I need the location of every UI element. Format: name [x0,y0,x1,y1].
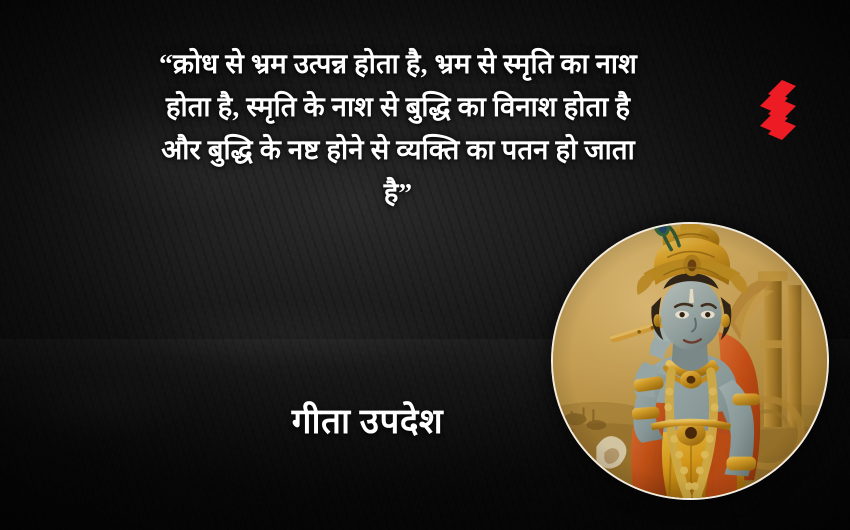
quote-line-4: है” [48,171,748,214]
quote-text: “क्रोध से भ्रम उत्पन्न होता है, भ्रम से … [48,42,748,214]
indian-express-logo-icon[interactable] [752,78,804,142]
quote-line-3: और बुद्धि के नष्ट होने से व्यक्ति का पतन… [48,128,748,171]
caption-text: गीता उपदेश [0,398,735,446]
krishna-portrait-image [551,222,829,500]
quote-line-2: होता है, स्मृति के नाश से बुद्धि का विना… [48,85,748,128]
quote-line-1: “क्रोध से भ्रम उत्पन्न होता है, भ्रम से … [48,42,748,85]
quote-poster: “क्रोध से भ्रम उत्पन्न होता है, भ्रम से … [0,0,850,530]
